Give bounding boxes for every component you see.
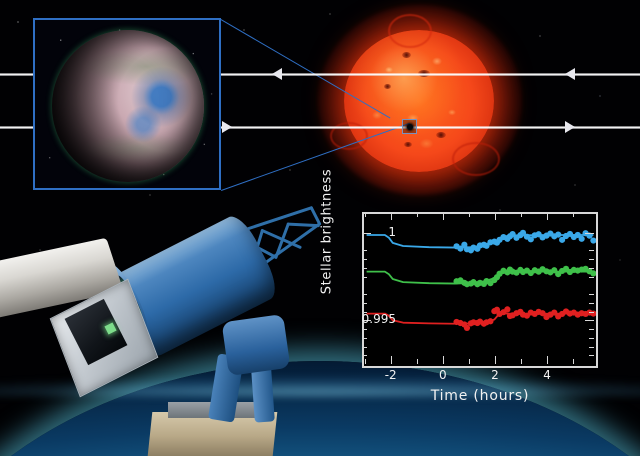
x-minor-tick (573, 359, 574, 364)
starspot (404, 142, 412, 147)
y-minor-tick-right (589, 338, 594, 339)
y-minor-tick-right (589, 268, 594, 269)
light-curve-chart: Stellar brightness 10.995 -2024 Time (ho… (300, 200, 640, 415)
y-minor-tick-right (589, 329, 594, 330)
x-tick-label: -2 (385, 368, 397, 382)
x-minor-tick-top (469, 212, 470, 217)
x-minor-tick (469, 359, 470, 364)
exoplanet-transit-figure: Stellar brightness 10.995 -2024 Time (ho… (0, 0, 640, 456)
ray-arrowhead-left-upper-2 (565, 68, 575, 80)
ray-arrowhead-left-upper (272, 68, 282, 80)
data-point-red-band (487, 318, 493, 324)
y-minor-tick (362, 355, 367, 356)
y-minor-tick (362, 268, 367, 269)
exoplanet-globe (52, 30, 204, 182)
y-minor-tick-right (589, 294, 594, 295)
x-minor-tick-top (365, 212, 366, 217)
chart-series-canvas (364, 214, 596, 366)
x-major-tick-top (495, 212, 496, 220)
y-minor-tick-right (589, 250, 594, 251)
starspot (384, 84, 391, 89)
y-minor-tick-right (589, 355, 594, 356)
x-tick-label: 4 (543, 368, 551, 382)
starspot (436, 132, 446, 138)
data-point-blue-band (590, 237, 596, 243)
starspot (402, 52, 411, 58)
x-minor-tick-top (573, 212, 574, 217)
y-major-tick-right (585, 233, 594, 234)
y-major-tick-right (585, 320, 594, 321)
solar-prominence (388, 14, 432, 48)
x-tick-label: 0 (439, 368, 447, 382)
data-point-blue-band (579, 236, 585, 242)
y-minor-tick (362, 347, 367, 348)
y-minor-tick (362, 277, 367, 278)
y-minor-tick (362, 294, 367, 295)
y-minor-tick-right (589, 259, 594, 260)
y-tick-label: 0.995 (362, 312, 396, 326)
exoplanet-terminator (52, 30, 204, 182)
y-minor-tick-right (589, 347, 594, 348)
x-tick-label: 2 (491, 368, 499, 382)
y-tick-label: 1 (388, 225, 396, 239)
x-minor-tick-top (417, 212, 418, 217)
x-major-tick (547, 356, 548, 364)
y-minor-tick-right (589, 277, 594, 278)
x-major-tick (443, 356, 444, 364)
x-minor-tick (365, 359, 366, 364)
y-minor-tick (362, 250, 367, 251)
x-major-tick (495, 356, 496, 364)
data-point-blue-band (555, 232, 561, 238)
solar-prominence (452, 142, 500, 176)
host-star-disc (344, 30, 494, 172)
data-point-red-band (504, 306, 510, 312)
x-major-tick-top (443, 212, 444, 220)
x-minor-tick (417, 359, 418, 364)
y-minor-tick-right (589, 312, 594, 313)
chart-plot-area (362, 212, 598, 368)
telescope-mount-head (222, 314, 291, 376)
x-minor-tick-top (521, 212, 522, 217)
transiting-planet-marker (402, 119, 417, 134)
x-major-tick-top (391, 212, 392, 220)
x-major-tick-top (547, 212, 548, 220)
x-major-tick (391, 356, 392, 364)
y-minor-tick (362, 303, 367, 304)
y-minor-tick-right (589, 303, 594, 304)
ray-arrowhead-right-lower-2 (565, 121, 575, 133)
x-minor-tick (521, 359, 522, 364)
y-minor-tick (362, 259, 367, 260)
y-minor-tick (362, 329, 367, 330)
y-minor-tick (362, 338, 367, 339)
ray-arrowhead-right-lower (222, 121, 232, 133)
chart-y-axis-label: Stellar brightness (320, 167, 335, 297)
y-major-tick (362, 233, 371, 234)
chart-x-axis-label: Time (hours) (362, 388, 598, 404)
exoplanet-inset-box (33, 18, 221, 190)
